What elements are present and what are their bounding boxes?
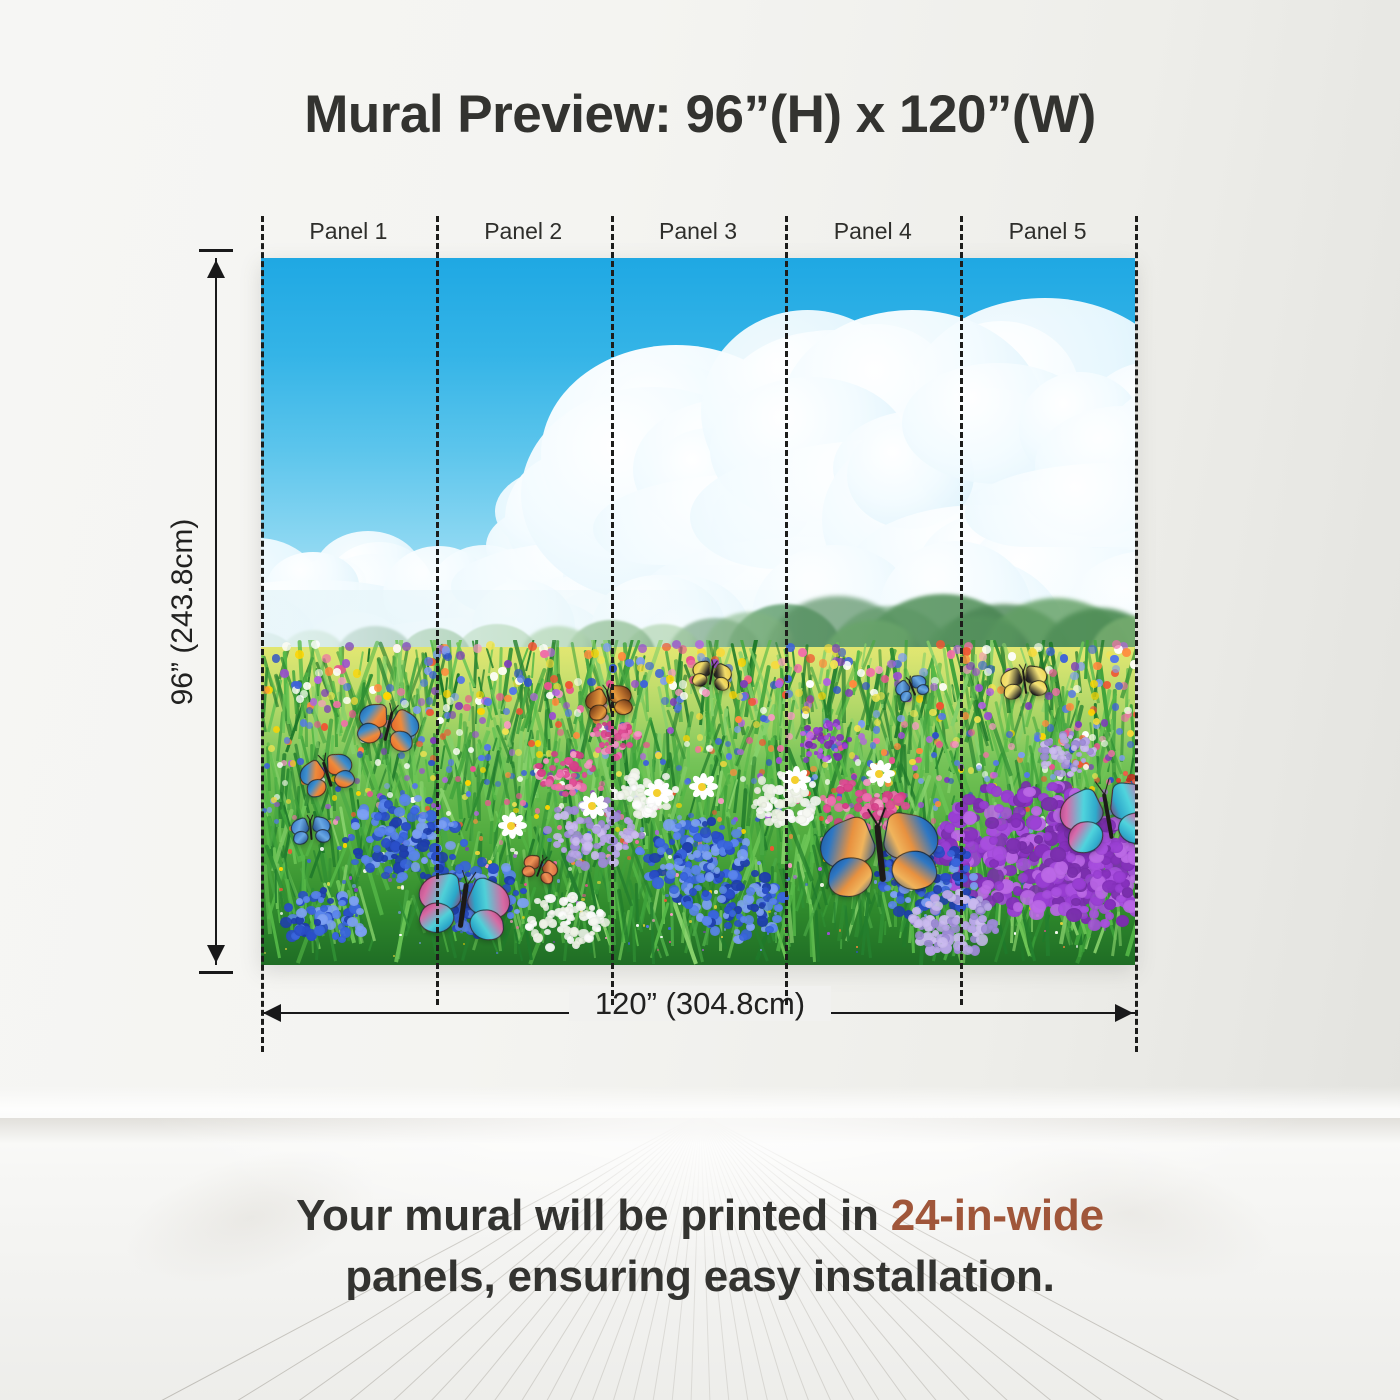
footer-caption: Your mural will be printed in 24-in-wide…	[0, 1186, 1400, 1307]
butterfly-small-blue-orange	[352, 701, 423, 759]
butterfly-hindwing-l	[1004, 684, 1023, 701]
caption-line2: panels, ensuring easy installation.	[345, 1252, 1054, 1301]
panel-label-2: Panel 2	[436, 216, 611, 252]
panel-divider-right-edge	[1135, 216, 1138, 1052]
caption-accent: 24-in-wide	[891, 1191, 1104, 1240]
butterfly-layer	[261, 258, 1135, 965]
caption-line1-pre: Your mural will be printed in	[296, 1191, 891, 1240]
butterfly-antenna	[607, 684, 610, 692]
butterfly-big-blue-orange	[817, 812, 945, 910]
butterfly-antenna	[909, 675, 910, 681]
panel-divider-1	[436, 216, 439, 1005]
panel-divider-2	[611, 216, 614, 1005]
height-tick-top	[199, 249, 233, 252]
butterfly-tiny-blue	[893, 673, 933, 708]
panel-divider-3	[785, 216, 788, 1005]
page-title: Mural Preview: 96”(H) x 120”(W)	[0, 84, 1400, 145]
width-dimension-text: 120” (304.8cm)	[569, 986, 831, 1021]
butterfly-yellow-swallowtail	[689, 660, 734, 696]
mural-preview-region[interactable]	[261, 258, 1135, 965]
butterfly-antenna	[877, 807, 885, 826]
height-tick-bottom	[199, 971, 233, 974]
panel-divider-4	[960, 216, 963, 1005]
butterfly-pink-cyan-left	[412, 872, 514, 951]
butterfly-yellow-swallowtail-2	[999, 665, 1051, 706]
height-dimension-arrow	[215, 258, 217, 965]
butterfly-pink-cyan-right	[1056, 780, 1135, 864]
height-dimension-label: 96” (243.8cm)	[166, 519, 200, 706]
butterfly-tiny-orange	[518, 853, 561, 890]
butterfly-hindwing-l	[1067, 820, 1103, 853]
butterfly-hindwing-l	[293, 830, 309, 845]
butterfly-hindwing-l	[590, 705, 608, 721]
panel-label-row: Panel 1 Panel 2 Panel 3 Panel 4 Panel 5	[261, 216, 1135, 252]
mural-artwork	[261, 258, 1135, 965]
butterfly-hindwing-l	[899, 690, 913, 703]
butterfly-small-blue-orange-2	[296, 750, 361, 805]
panel-label-4: Panel 4	[785, 216, 960, 252]
panel-label-3: Panel 3	[611, 216, 786, 252]
panel-divider-left-edge	[261, 216, 264, 1052]
height-arrowhead-up	[207, 260, 225, 278]
butterfly-tiny-blue-2	[290, 816, 333, 849]
butterfly-hindwing-r	[714, 677, 729, 691]
butterfly-antenna	[1104, 779, 1110, 795]
width-dimension-label: 120” (304.8cm)	[0, 986, 1400, 1022]
panel-label-1: Panel 1	[261, 216, 436, 252]
height-arrowhead-down	[207, 945, 225, 963]
butterfly-antenna	[324, 753, 326, 762]
panel-label-5: Panel 5	[960, 216, 1135, 252]
